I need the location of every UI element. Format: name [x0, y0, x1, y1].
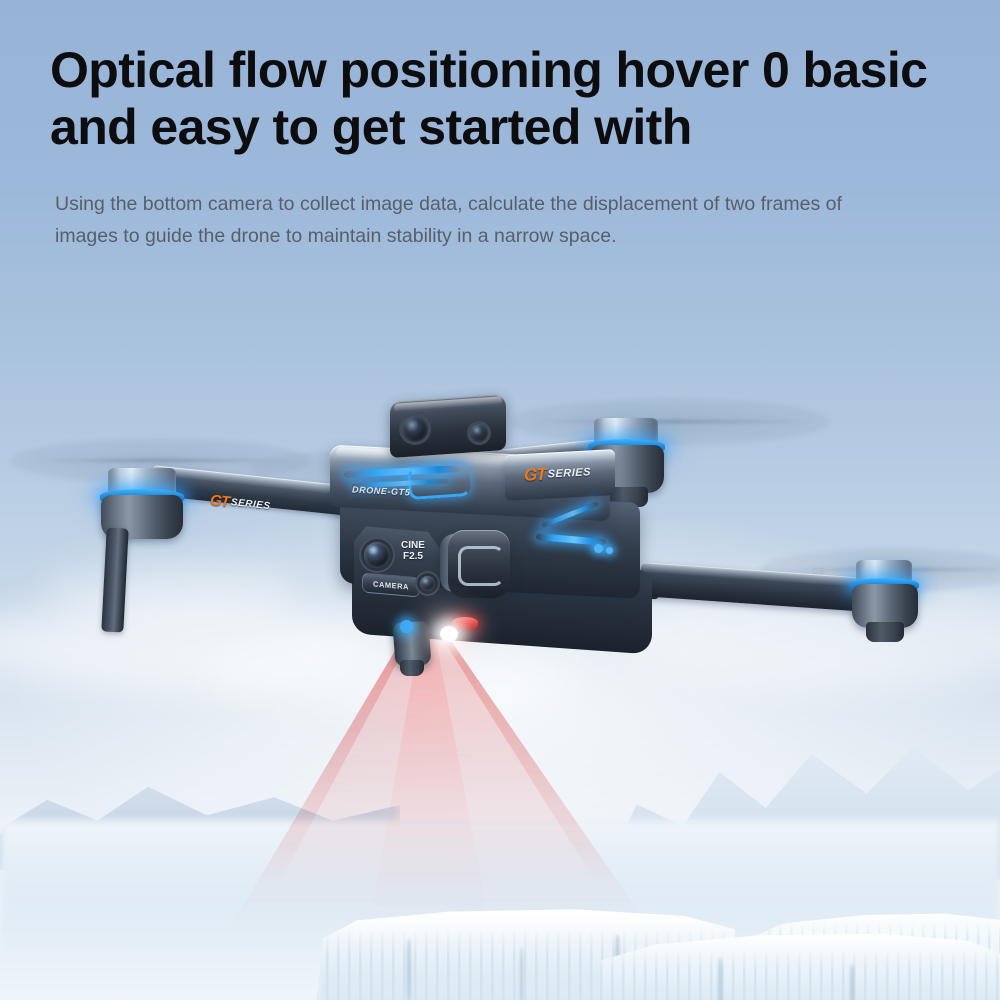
- rear-arm-marking: G5: [812, 566, 825, 577]
- lens-glint: [368, 545, 378, 555]
- badge-gt-series-body: GT SERIES: [524, 462, 591, 486]
- page-title: Optical flow positioning hover 0 basic a…: [50, 42, 960, 155]
- camera-lens-main: [364, 542, 390, 568]
- motor-shaft-nut: [866, 622, 904, 642]
- propeller-streak: [530, 420, 814, 423]
- sensor-lens-secondary: [470, 424, 488, 442]
- badge-series-text: SERIES: [548, 466, 591, 480]
- led-indicator-dot: [606, 547, 613, 554]
- page-description: Using the bottom camera to collect image…: [55, 189, 885, 253]
- camera-mode-labels: CINE F2.5: [392, 541, 434, 562]
- copy-block: Optical flow positioning hover 0 basic a…: [50, 42, 960, 253]
- sensor-indicator-blue: [400, 620, 413, 633]
- camera-lens-secondary: [420, 576, 435, 591]
- led-indicator-dot: [594, 544, 603, 553]
- product-feature-poster: G5 GT SERIES: [0, 0, 1000, 1000]
- propeller-streak: [30, 459, 292, 462]
- aperture-label: F2.5: [403, 551, 423, 562]
- sensor-lens-primary: [402, 416, 428, 442]
- sensor-led-white: [440, 626, 458, 642]
- gimbal-yoke-outline: [458, 546, 504, 586]
- cine-label: CINE: [401, 540, 425, 551]
- sensor-pod-base: [400, 660, 424, 676]
- badge-gt-text: GT: [524, 465, 546, 486]
- badge-series-text: SERIES: [230, 497, 271, 512]
- landing-leg: [101, 527, 128, 632]
- badge-gt-text: GT: [209, 492, 230, 511]
